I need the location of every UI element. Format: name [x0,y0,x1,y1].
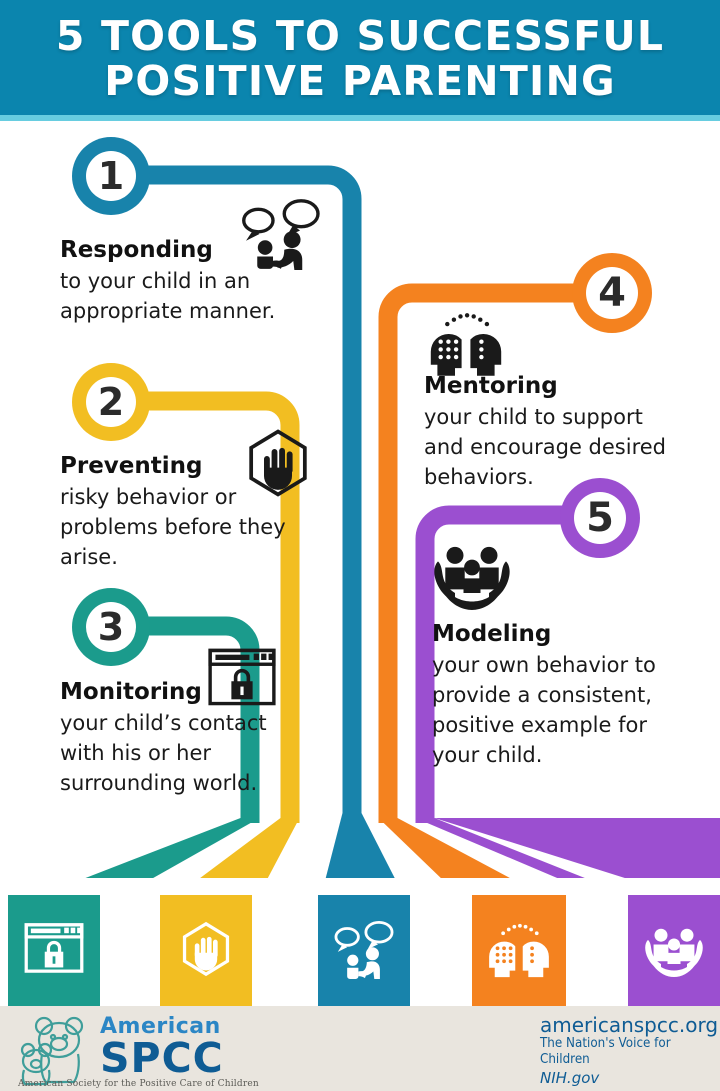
step-5-number: 5 [574,492,626,544]
step-3-body: your child’s contact with his or her sur… [60,708,296,798]
footer-bar-preventing [160,895,252,1006]
parent-child-speech-bubbles-icon [331,921,397,979]
page-title-line-2: POSITIVE PARENTING [0,59,720,104]
bear-and-cub-logo-icon [12,1010,98,1086]
step-1-text-block: Responding to your child in an appropria… [60,236,300,326]
logo-line-2: SPCC [100,1039,224,1077]
step-3-title: Monitoring [60,678,296,706]
footer-bar-responding [318,895,410,1006]
header-banner: 5 TOOLS TO SUCCESSFUL POSITIVE PARENTING [0,0,720,115]
step-4-text-block: Mentoring your child to support and enco… [424,372,688,492]
logo-wordmark: American SPCC [100,1014,224,1077]
browser-window-lock-icon [24,923,84,973]
step-4-body: your child to support and encourage desi… [424,402,688,492]
step-2-number-circle[interactable]: 2 [72,363,150,441]
logo-tagline: American Society for the Positive Care o… [18,1079,259,1089]
family-in-hands-icon [640,925,708,977]
step-5-text-block: Modeling your own behavior to provide a … [432,620,694,770]
step-4-number: 4 [586,267,638,319]
site-url[interactable]: americanspcc.org [540,1014,720,1036]
step-5-body: your own behavior to provide a consisten… [432,650,694,770]
two-heads-knowledge-transfer-icon [483,923,555,979]
footer-bar-mentoring [472,895,566,1006]
step-1-title: Responding [60,236,300,264]
family-in-hands-icon [428,542,516,610]
step-1-number: 1 [86,151,136,201]
infographic-root: 5 TOOLS TO SUCCESSFUL POSITIVE PARENTING [0,0,720,1091]
source-credit: NIH.gov [540,1068,720,1088]
page-title: 5 TOOLS TO SUCCESSFUL POSITIVE PARENTING [0,14,720,104]
step-2-text-block: Preventing risky behavior or problems be… [60,452,290,572]
american-spcc-logo[interactable]: American SPCC American Society for the P… [8,1008,338,1088]
step-1-number-circle[interactable]: 1 [72,137,150,215]
step-4-number-circle[interactable]: 4 [572,253,652,333]
two-heads-knowledge-transfer-icon [424,312,508,378]
footer-bar-modeling [628,895,720,1006]
step-2-number: 2 [86,377,136,427]
step-3-number: 3 [86,602,136,652]
step-2-body: risky behavior or problems before they a… [60,482,290,572]
step-3-number-circle[interactable]: 3 [72,588,150,666]
site-info: americanspcc.org The Nation's Voice for … [540,1014,720,1088]
step-5-title: Modeling [432,620,694,648]
stop-hand-hexagon-icon [178,921,234,977]
site-tagline: The Nation's Voice for Children [540,1036,706,1068]
step-3-text-block: Monitoring your child’s contact with his… [60,678,296,798]
step-4-title: Mentoring [424,372,688,400]
step-1-body: to your child in an appropriate manner. [60,266,300,326]
step-2-title: Preventing [60,452,290,480]
footer-bar-monitoring [8,895,100,1006]
page-title-line-1: 5 TOOLS TO SUCCESSFUL [56,12,664,60]
